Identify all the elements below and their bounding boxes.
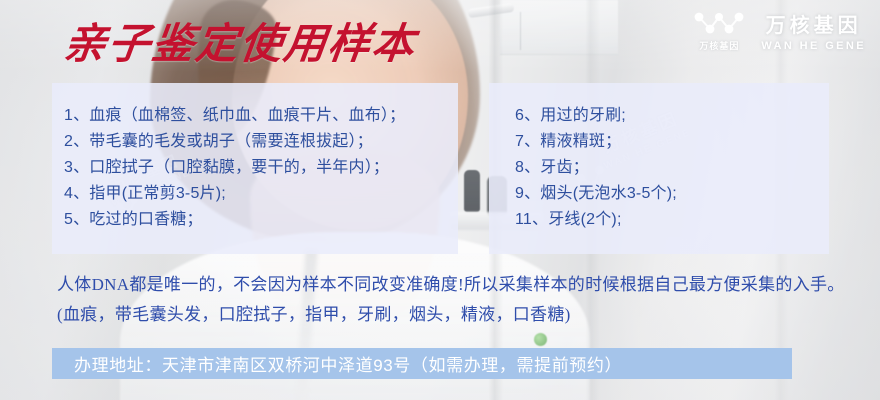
brand-wordmark: 万核基因 WAN HE GENE <box>761 9 866 52</box>
list-item: 7、精液精斑； <box>515 129 829 155</box>
list-item: 1、血痕（血棉签、纸巾血、血痕干片、血布）； <box>64 103 458 129</box>
list-item: 4、指甲(正常剪3-5片); <box>64 181 458 207</box>
list-item: 3、口腔拭子（口腔黏膜，要干的，半年内）； <box>64 155 458 181</box>
brand-mark: 万核基因 <box>691 8 747 52</box>
list-item: 6、用过的牙刷; <box>515 103 829 129</box>
brand-logo: 万核基因 万核基因 WAN HE GENE <box>691 8 866 52</box>
list-item: 5、吃过的口香糖； <box>64 207 458 233</box>
list-item: 8、牙齿； <box>515 155 829 181</box>
address-text: 办理地址：天津市津南区双桥河中泽道93号（如需办理，需提前预约） <box>52 351 622 376</box>
dna-note-text: 人体DNA都是唯一的，不会因为样本不同改变准确度!所以采集样本的时候根据自己最方… <box>57 270 857 330</box>
list-item: 9、烟头(无泡水3-5个); <box>515 181 829 207</box>
list-item: 2、带毛囊的毛发或胡子（需要连根拔起）； <box>64 129 458 155</box>
poster-root: 亲子鉴定使用样本 <box>0 0 880 400</box>
sample-list-right: 6、用过的牙刷; 7、精液精斑； 8、牙齿； 9、烟头(无泡水3-5个); 11… <box>489 83 829 233</box>
brand-mark-caption: 万核基因 <box>699 39 739 52</box>
brand-name-cn: 万核基因 <box>766 9 862 38</box>
sample-panel-right: 6、用过的牙刷; 7、精液精斑； 8、牙齿； 9、烟头(无泡水3-5个); 11… <box>489 83 829 254</box>
sample-panel-left: 1、血痕（血棉签、纸巾血、血痕干片、血布）； 2、带毛囊的毛发或胡子（需要连根拔… <box>52 83 458 254</box>
page-title: 亲子鉴定使用样本 <box>61 22 418 66</box>
list-item: 11、牙线(2个); <box>515 207 829 233</box>
sample-list-left: 1、血痕（血棉签、纸巾血、血痕干片、血布）； 2、带毛囊的毛发或胡子（需要连根拔… <box>52 83 458 233</box>
address-bar: 办理地址：天津市津南区双桥河中泽道93号（如需办理，需提前预约） <box>52 348 792 379</box>
brand-name-en: WAN HE GENE <box>761 40 866 52</box>
molecule-network-icon <box>691 8 747 38</box>
